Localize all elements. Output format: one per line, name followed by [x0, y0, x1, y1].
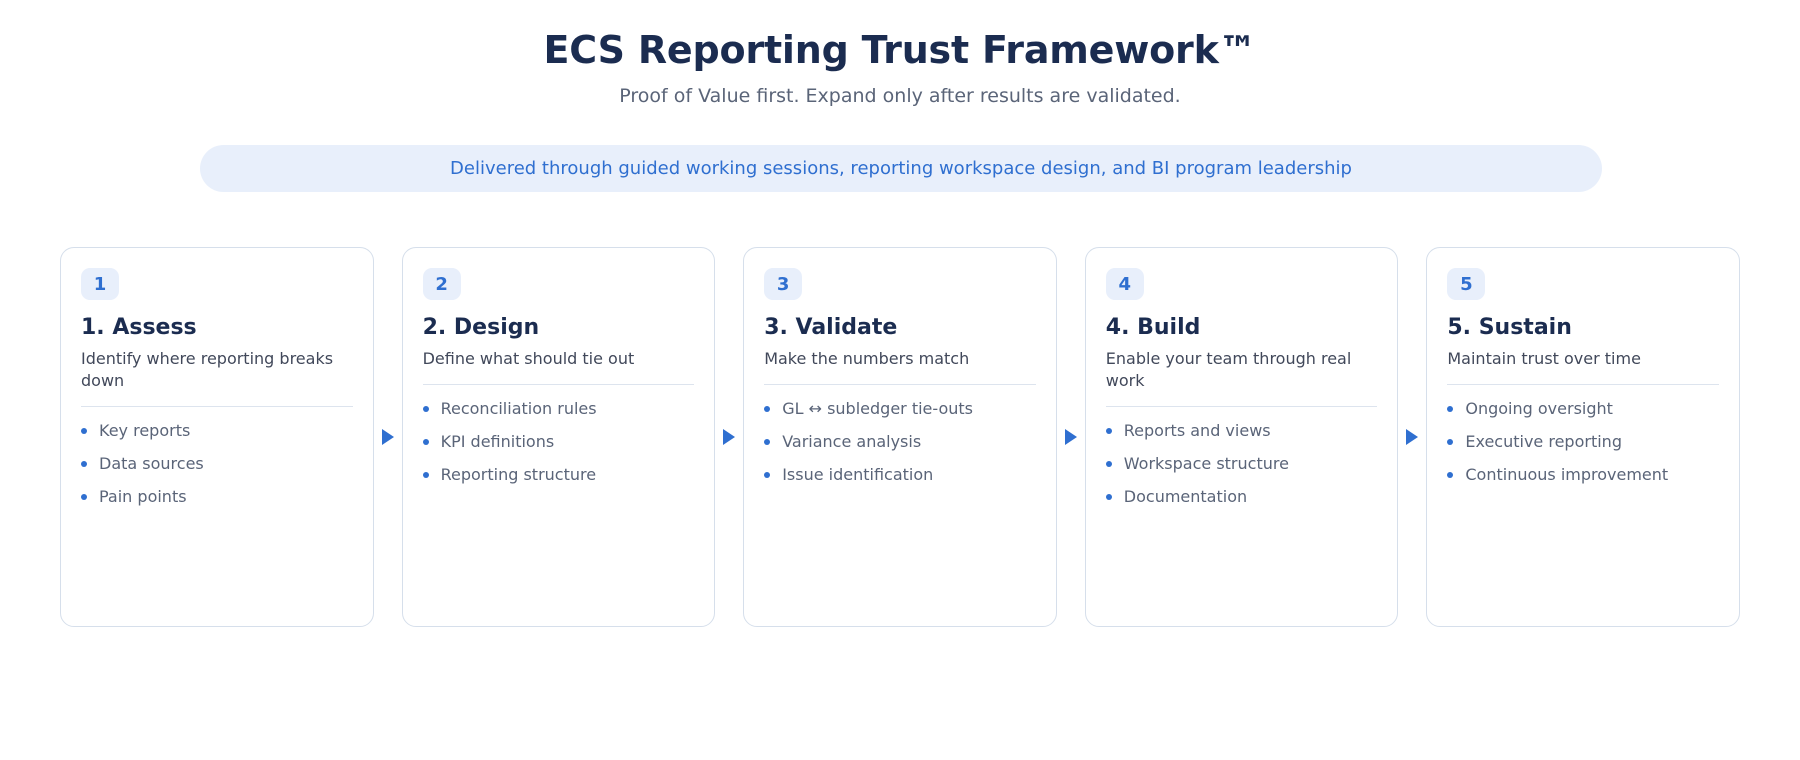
- list-item-label: GL ↔ subledger tie-outs: [782, 399, 973, 418]
- play-triangle-right-icon: [1064, 428, 1078, 446]
- page-title: ECS Reporting Trust Framework™: [0, 26, 1800, 74]
- stage-badge: 5: [1447, 268, 1485, 300]
- list-item-label: Reports and views: [1124, 421, 1271, 440]
- stage-title: 4. Build: [1106, 314, 1378, 342]
- stage-divider: [764, 384, 1036, 385]
- list-item-label: Workspace structure: [1124, 454, 1289, 473]
- play-triangle-right-icon: [722, 428, 736, 446]
- list-item-label: Reconciliation rules: [441, 399, 597, 418]
- list-item: Reporting structure: [423, 464, 695, 485]
- list-item-label: Continuous improvement: [1465, 465, 1668, 484]
- stage-badge: 3: [764, 268, 802, 300]
- stage-divider: [1106, 406, 1378, 407]
- list-item-label: Data sources: [99, 454, 204, 473]
- play-triangle-right-icon: [1405, 428, 1419, 446]
- stage-description: Enable your team through real work: [1106, 348, 1366, 392]
- list-item: Issue identification: [764, 464, 1036, 485]
- delivery-banner: Delivered through guided working session…: [200, 145, 1602, 192]
- list-item: Continuous improvement: [1447, 464, 1719, 485]
- stage-divider: [81, 406, 353, 407]
- bullet-dot-icon: [1106, 428, 1112, 434]
- stage-title: 2. Design: [423, 314, 695, 342]
- stage-description: Maintain trust over time: [1447, 348, 1707, 370]
- list-item: GL ↔ subledger tie-outs: [764, 398, 1036, 419]
- stage-badge: 1: [81, 268, 119, 300]
- stage-connector-arrow-3: [1057, 247, 1085, 627]
- bullet-dot-icon: [764, 406, 770, 412]
- list-item: Reports and views: [1106, 420, 1378, 441]
- list-item-label: Ongoing oversight: [1465, 399, 1613, 418]
- stage-connector-arrow-1: [374, 247, 402, 627]
- stage-bullet-list: Ongoing oversight Executive reporting Co…: [1447, 398, 1719, 485]
- stage-row: 1 1. Assess Identify where reporting bre…: [60, 247, 1740, 627]
- list-item: Workspace structure: [1106, 453, 1378, 474]
- framework-page: ECS Reporting Trust Framework™ Proof of …: [0, 0, 1800, 760]
- list-item-label: KPI definitions: [441, 432, 555, 451]
- list-item: Ongoing oversight: [1447, 398, 1719, 419]
- page-subtitle: Proof of Value first. Expand only after …: [0, 83, 1800, 109]
- stage-bullet-list: Reconciliation rules KPI definitions Rep…: [423, 398, 695, 485]
- bullet-dot-icon: [81, 428, 87, 434]
- stage-card-assess[interactable]: 1 1. Assess Identify where reporting bre…: [60, 247, 374, 627]
- bullet-dot-icon: [1106, 494, 1112, 500]
- list-item: Key reports: [81, 420, 353, 441]
- stage-description: Define what should tie out: [423, 348, 683, 370]
- bullet-dot-icon: [764, 439, 770, 445]
- list-item-label: Pain points: [99, 487, 187, 506]
- bullet-dot-icon: [81, 461, 87, 467]
- list-item-label: Variance analysis: [782, 432, 921, 451]
- bullet-dot-icon: [423, 439, 429, 445]
- stage-title: 1. Assess: [81, 314, 353, 342]
- stage-card-sustain[interactable]: 5 5. Sustain Maintain trust over time On…: [1426, 247, 1740, 627]
- list-item-label: Issue identification: [782, 465, 933, 484]
- bullet-dot-icon: [1447, 439, 1453, 445]
- bullet-dot-icon: [1447, 472, 1453, 478]
- stage-card-design[interactable]: 2 2. Design Define what should tie out R…: [402, 247, 716, 627]
- stage-divider: [423, 384, 695, 385]
- list-item: KPI definitions: [423, 431, 695, 452]
- stage-description: Make the numbers match: [764, 348, 1024, 370]
- list-item-label: Executive reporting: [1465, 432, 1622, 451]
- stage-description: Identify where reporting breaks down: [81, 348, 341, 392]
- stage-bullet-list: Reports and views Workspace structure Do…: [1106, 420, 1378, 507]
- stage-card-validate[interactable]: 3 3. Validate Make the numbers match GL …: [743, 247, 1057, 627]
- list-item-label: Reporting structure: [441, 465, 596, 484]
- stage-badge: 4: [1106, 268, 1144, 300]
- stage-bullet-list: Key reports Data sources Pain points: [81, 420, 353, 507]
- stage-card-build[interactable]: 4 4. Build Enable your team through real…: [1085, 247, 1399, 627]
- list-item: Executive reporting: [1447, 431, 1719, 452]
- bullet-dot-icon: [1106, 461, 1112, 467]
- bullet-dot-icon: [1447, 406, 1453, 412]
- stage-title: 5. Sustain: [1447, 314, 1719, 342]
- stage-title: 3. Validate: [764, 314, 1036, 342]
- list-item: Reconciliation rules: [423, 398, 695, 419]
- bullet-dot-icon: [764, 472, 770, 478]
- stage-divider: [1447, 384, 1719, 385]
- list-item: Pain points: [81, 486, 353, 507]
- list-item-label: Key reports: [99, 421, 190, 440]
- bullet-dot-icon: [81, 494, 87, 500]
- stage-badge: 2: [423, 268, 461, 300]
- bullet-dot-icon: [423, 472, 429, 478]
- delivery-banner-text: Delivered through guided working session…: [426, 157, 1376, 181]
- bullet-dot-icon: [423, 406, 429, 412]
- list-item-label: Documentation: [1124, 487, 1247, 506]
- stage-connector-arrow-4: [1398, 247, 1426, 627]
- stage-bullet-list: GL ↔ subledger tie-outs Variance analysi…: [764, 398, 1036, 485]
- list-item: Data sources: [81, 453, 353, 474]
- play-triangle-right-icon: [381, 428, 395, 446]
- list-item: Documentation: [1106, 486, 1378, 507]
- page-header: ECS Reporting Trust Framework™ Proof of …: [0, 0, 1800, 109]
- list-item: Variance analysis: [764, 431, 1036, 452]
- stage-connector-arrow-2: [715, 247, 743, 627]
